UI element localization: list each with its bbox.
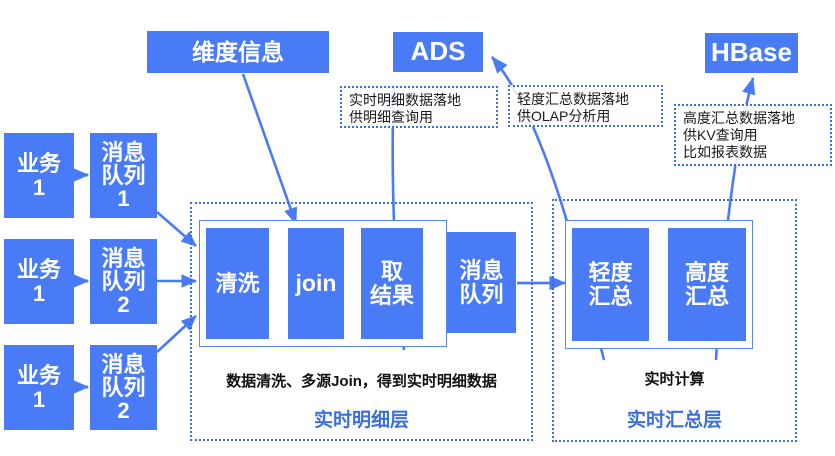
detail-output-queue-line2: 队列 [459,283,503,306]
note-light-summary-landing-line1: 轻度汇总数据落地 [517,91,655,108]
source-box-2[interactable]: 业务 1 [4,239,74,324]
note-heavy-summary-landing-line3: 比如报表数据 [683,144,824,161]
detail-layer-subtitle: 数据清洗、多源Join，得到实时明细数据 [190,370,533,391]
step-join-box[interactable]: join [288,228,344,339]
message-queue-box-1[interactable]: 消息 队列 1 [90,133,157,218]
arrow-source-to-queue [74,175,88,387]
source-box-1-line2: 1 [33,176,45,199]
note-detail-landing-line2: 供明细查询用 [349,109,490,126]
hbase-sink-box[interactable]: HBase [705,33,798,73]
step-take-result-box[interactable]: 取 结果 [361,228,423,339]
message-queue-box-3-line1: 消息 [101,353,145,376]
source-box-1-line1: 业务 [17,152,61,175]
step-join-label: join [296,271,337,295]
hbase-sink-label: HBase [711,39,792,67]
detail-layer-caption: 实时明细层 [190,405,533,432]
step-heavy-summary-line2: 汇总 [685,285,729,308]
summary-layer-subtitle: 实时计算 [552,368,797,389]
source-box-3[interactable]: 业务 1 [4,345,74,430]
note-light-summary-landing: 轻度汇总数据落地 供OLAP分析用 [508,85,663,127]
note-heavy-summary-landing-line1: 高度汇总数据落地 [683,110,824,127]
message-queue-box-1-line1: 消息 [101,141,145,164]
source-box-2-line2: 1 [33,282,45,305]
step-take-result-line1: 取 [381,260,403,283]
step-take-result-line2: 结果 [370,284,414,307]
message-queue-box-3-line3: 2 [117,399,129,422]
note-detail-landing: 实时明细数据落地 供明细查询用 [340,86,498,128]
step-heavy-summary-line1: 高度 [685,261,729,284]
detail-output-queue-line1: 消息 [459,259,503,282]
diagram-canvas: 业务 1 业务 1 业务 1 消息 队列 1 消息 队列 2 消息 队列 2 维… [0,0,835,456]
source-box-1[interactable]: 业务 1 [4,133,74,218]
note-heavy-summary-landing-line2: 供KV查询用 [683,127,824,144]
step-light-summary-line1: 轻度 [588,261,632,284]
ads-sink-box[interactable]: ADS [393,32,483,72]
message-queue-box-1-line2: 队列 [101,164,145,187]
ads-sink-label: ADS [411,38,466,66]
note-heavy-summary-landing: 高度汇总数据落地 供KV查询用 比如报表数据 [674,104,832,166]
message-queue-box-3-line2: 队列 [101,376,145,399]
message-queue-box-1-line3: 1 [117,187,129,210]
step-clean-box[interactable]: 清洗 [206,228,269,339]
step-light-summary-line2: 汇总 [588,285,632,308]
step-light-summary-box[interactable]: 轻度 汇总 [572,228,649,341]
message-queue-box-2-line3: 2 [117,293,129,316]
message-queue-box-2[interactable]: 消息 队列 2 [90,239,157,324]
summary-layer-caption: 实时汇总层 [552,405,797,432]
message-queue-box-2-line1: 消息 [101,247,145,270]
note-light-summary-landing-line2: 供OLAP分析用 [517,108,655,125]
source-box-3-line1: 业务 [17,364,61,387]
source-box-3-line2: 1 [33,388,45,411]
step-heavy-summary-box[interactable]: 高度 汇总 [668,228,746,341]
source-box-2-line1: 业务 [17,258,61,281]
note-detail-landing-line1: 实时明细数据落地 [349,92,490,109]
dimension-info-label: 维度信息 [192,40,284,64]
message-queue-box-2-line2: 队列 [101,270,145,293]
detail-output-queue-box[interactable]: 消息 队列 [447,232,516,333]
dimension-info-box[interactable]: 维度信息 [147,31,329,73]
message-queue-box-3[interactable]: 消息 队列 2 [90,345,157,430]
step-clean-label: 清洗 [215,272,259,295]
